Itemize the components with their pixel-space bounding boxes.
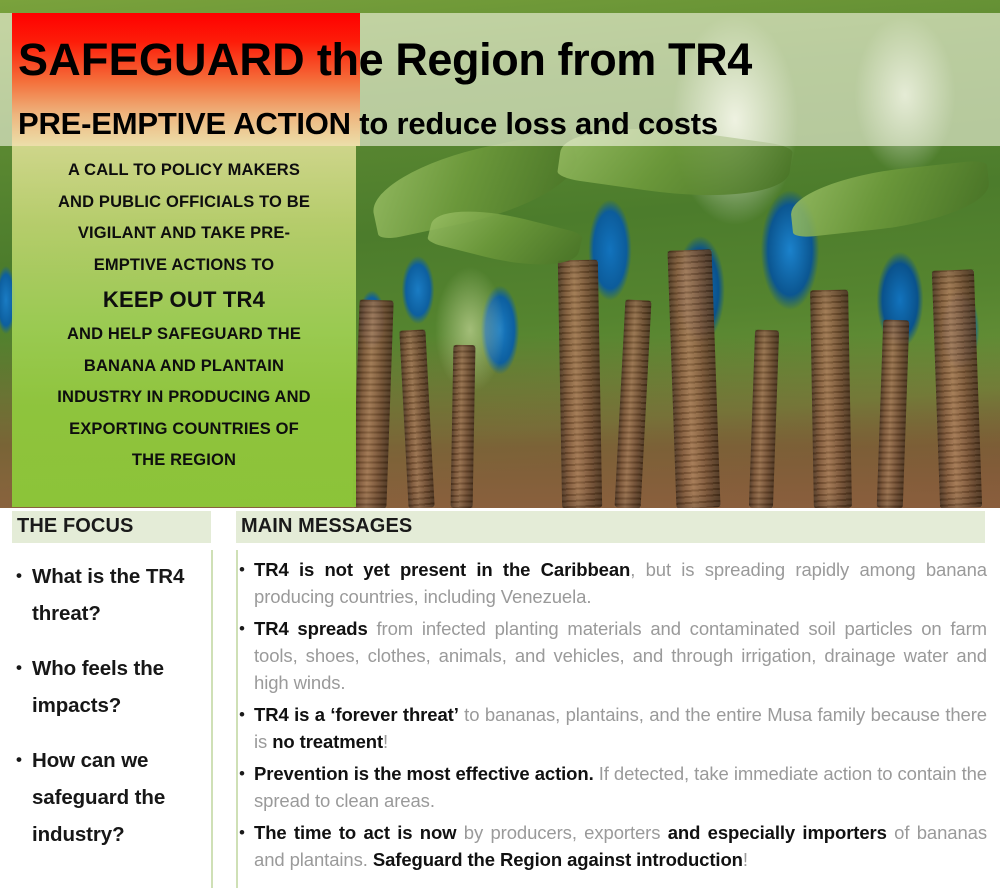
pseudostem [810, 290, 852, 508]
cta-line: BANANA AND PLANTAIN [16, 351, 352, 383]
list-item: What is the TR4 threat? [14, 558, 206, 632]
pseudostem [451, 345, 476, 508]
column-divider-right [236, 550, 238, 888]
poster-title-line-1: SAFEGUARD the Region from TR4 [18, 29, 978, 91]
message-plain: ! [383, 731, 388, 752]
cta-emphasis-keep-out-tr4: KEEP OUT TR4 [16, 281, 352, 319]
list-item: TR4 is a ‘forever threat’ to bananas, pl… [239, 701, 987, 755]
focus-question-list: What is the TR4 threat? Who feels the im… [14, 558, 206, 871]
cta-line: AND HELP SAFEGUARD THE [16, 319, 352, 351]
poster-title-emphasis: SAFEGUARD [18, 34, 305, 85]
message-bold: Safeguard the Region against introductio… [373, 849, 743, 870]
message-bold: TR4 is not yet present in the Caribbean [254, 559, 630, 580]
message-bold: TR4 is a ‘forever threat’ [254, 704, 459, 725]
poster-subtitle-line-2: PRE-EMPTIVE ACTION to reduce loss and co… [18, 106, 978, 142]
cta-line: EXPORTING COUNTRIES OF [16, 414, 352, 446]
poster-root: SAFEGUARD the Region from TR4 PRE-EMPTIV… [0, 0, 1000, 890]
list-item: The time to act is now by producers, exp… [239, 819, 987, 873]
call-to-action-text: A CALL TO POLICY MAKERS AND PUBLIC OFFIC… [16, 155, 352, 477]
pseudostem [558, 260, 602, 508]
focus-heading: THE FOCUS [17, 508, 133, 544]
message-bold: and especially importers [668, 822, 887, 843]
poster-subtitle-emphasis: PRE-EMPTIVE ACTION [18, 106, 351, 141]
message-plain: by producers, exporters [456, 822, 667, 843]
hero-banner: SAFEGUARD the Region from TR4 PRE-EMPTIV… [0, 0, 1000, 508]
cta-line: THE REGION [16, 445, 352, 477]
cta-line: EMPTIVE ACTIONS TO [16, 250, 352, 282]
pseudostem [668, 249, 721, 508]
list-item: Prevention is the most effective action.… [239, 760, 987, 814]
message-bold: TR4 spreads [254, 618, 368, 639]
poster-title-rest: the Region from TR4 [305, 34, 752, 85]
pseudostem [352, 299, 393, 508]
column-divider-left [211, 550, 213, 888]
cta-line: VIGILANT AND TAKE PRE- [16, 218, 352, 250]
pseudostem [932, 269, 982, 508]
message-plain: ! [743, 849, 748, 870]
main-messages-heading: MAIN MESSAGES [241, 508, 412, 544]
cta-line: AND PUBLIC OFFICIALS TO BE [16, 187, 352, 219]
list-item: TR4 spreads from infected planting mater… [239, 615, 987, 696]
message-bold: no treatment [272, 731, 383, 752]
message-bold: The time to act is now [254, 822, 456, 843]
message-bold: Prevention is the most effective action. [254, 763, 594, 784]
poster-subtitle-rest: to reduce loss and costs [351, 106, 718, 141]
list-item: TR4 is not yet present in the Caribbean,… [239, 556, 987, 610]
cta-line: INDUSTRY IN PRODUCING AND [16, 382, 352, 414]
list-item: How can we safeguard the industry? [14, 742, 206, 853]
main-messages-list: TR4 is not yet present in the Caribbean,… [239, 556, 987, 878]
list-item: Who feels the impacts? [14, 650, 206, 724]
cta-line: A CALL TO POLICY MAKERS [16, 155, 352, 187]
